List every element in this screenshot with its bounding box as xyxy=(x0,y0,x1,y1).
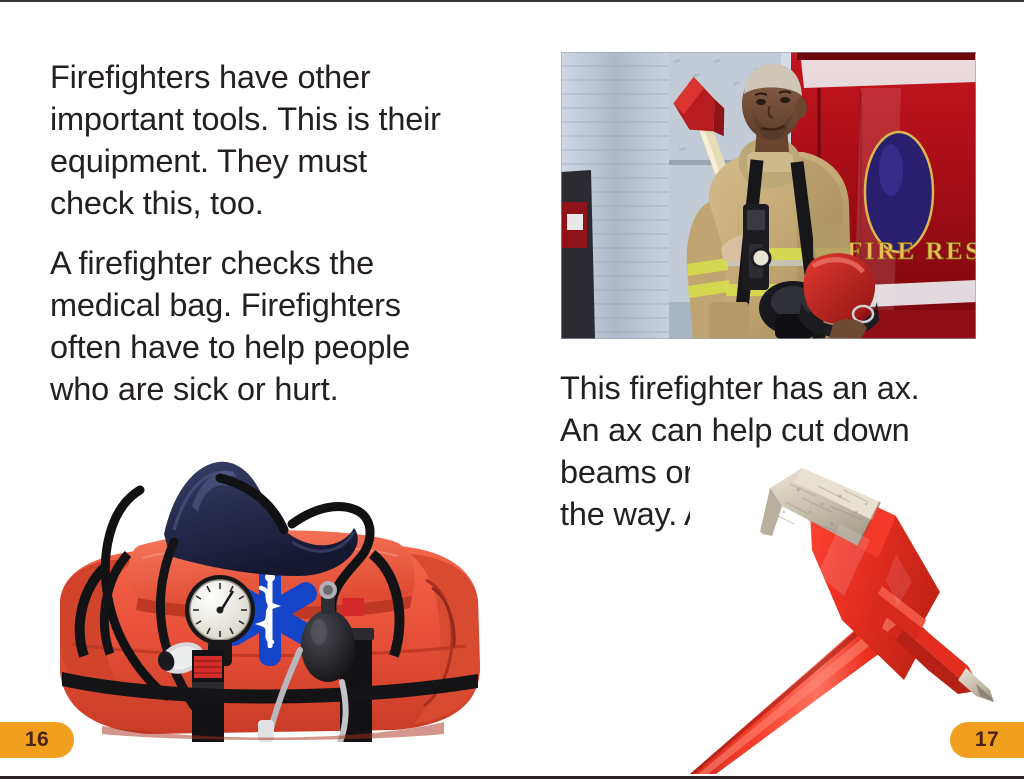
svg-text:FIRE RESCUE: FIRE RESCUE xyxy=(847,238,976,265)
paragraph-text: Firefighters have other important tools.… xyxy=(50,56,450,224)
page-number-left: 16 xyxy=(25,728,49,752)
firefighter-with-ax-photo: FIRE RESCUE xyxy=(561,52,976,339)
page-number-right: 17 xyxy=(975,728,999,752)
page-number-tab-left: 16 xyxy=(0,722,74,758)
left-page-paragraph-1: Firefighters have other important tools.… xyxy=(50,56,450,224)
page-number-tab-right: 17 xyxy=(950,722,1024,758)
paragraph-text: A firefighter checks the medical bag. Fi… xyxy=(50,242,450,410)
left-page-paragraph-2: A firefighter checks the medical bag. Fi… xyxy=(50,242,450,410)
medical-bag-photo xyxy=(42,450,492,742)
book-page-spread: Firefighters have other important tools.… xyxy=(0,0,1024,779)
